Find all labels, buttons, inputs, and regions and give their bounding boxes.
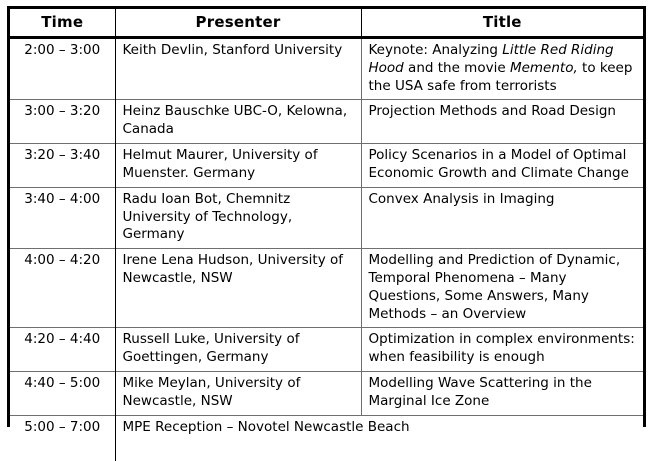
schedule-table-container: Time Presenter Title 2:00 – 3:00Keith De…	[7, 6, 646, 427]
cell-presenter: Helmut Maurer, University of Muenster. G…	[115, 144, 361, 188]
cell-presenter: Mike Meylan, University of Newcastle, NS…	[115, 372, 361, 416]
title-italic-segment: Memento,	[510, 60, 578, 76]
table-row: 2:00 – 3:00Keith Devlin, Stanford Univer…	[10, 38, 643, 100]
cell-time: 3:20 – 3:40	[10, 144, 115, 188]
cell-title: Modelling Wave Scattering in the Margina…	[361, 372, 643, 416]
header-row: Time Presenter Title	[10, 9, 643, 38]
conference-schedule-table: Time Presenter Title 2:00 – 3:00Keith De…	[10, 9, 643, 461]
cell-title: Convex Analysis in Imaging	[361, 187, 643, 248]
cell-presenter: Irene Lena Hudson, University of Newcast…	[115, 249, 361, 328]
column-header-title: Title	[361, 9, 643, 38]
cell-time: 5:00 – 7:00	[10, 415, 115, 461]
title-segment: and the movie	[404, 60, 510, 76]
cell-title: Optimization in complex environments: wh…	[361, 328, 643, 372]
cell-time: 4:40 – 5:00	[10, 372, 115, 416]
column-header-presenter: Presenter	[115, 9, 361, 38]
table-row: 3:20 – 3:40Helmut Maurer, University of …	[10, 144, 643, 188]
cell-presenter: Russell Luke, University of Goettingen, …	[115, 328, 361, 372]
table-row: 3:00 – 3:20Heinz Bauschke UBC-O, Kelowna…	[10, 100, 643, 144]
table-body: 2:00 – 3:00Keith Devlin, Stanford Univer…	[10, 38, 643, 461]
title-segment: Modelling Wave Scattering in the Margina…	[369, 375, 592, 409]
table-header: Time Presenter Title	[10, 9, 643, 38]
cell-presenter: Radu Ioan Bot, Chemnitz University of Te…	[115, 187, 361, 248]
title-segment: Modelling and Prediction of Dynamic, Tem…	[369, 252, 621, 321]
title-segment: Optimization in complex environments: wh…	[369, 331, 635, 365]
table-row: 5:00 – 7:00MPE Reception – Novotel Newca…	[10, 415, 643, 461]
table-row: 3:40 – 4:00Radu Ioan Bot, Chemnitz Unive…	[10, 187, 643, 248]
table-row: 4:40 – 5:00Mike Meylan, University of Ne…	[10, 372, 643, 416]
cell-title: Modelling and Prediction of Dynamic, Tem…	[361, 249, 643, 328]
title-segment: Convex Analysis in Imaging	[369, 191, 555, 207]
table-row: 4:00 – 4:20Irene Lena Hudson, University…	[10, 249, 643, 328]
column-header-time: Time	[10, 9, 115, 38]
cell-time: 3:00 – 3:20	[10, 100, 115, 144]
cell-presenter: Keith Devlin, Stanford University	[115, 38, 361, 100]
cell-time: 4:20 – 4:40	[10, 328, 115, 372]
cell-presenter: Heinz Bauschke UBC-O, Kelowna, Canada	[115, 100, 361, 144]
title-segment: Policy Scenarios in a Model of Optimal E…	[369, 147, 629, 181]
cell-title: Keynote: Analyzing Little Red Riding Hoo…	[361, 38, 643, 100]
title-segment: Keynote: Analyzing	[369, 42, 503, 58]
title-segment: Projection Methods and Road Design	[369, 103, 616, 119]
table-row: 4:20 – 4:40Russell Luke, University of G…	[10, 328, 643, 372]
cell-presenter-merged: MPE Reception – Novotel Newcastle Beach	[115, 415, 643, 461]
cell-time: 2:00 – 3:00	[10, 38, 115, 100]
cell-title: Policy Scenarios in a Model of Optimal E…	[361, 144, 643, 188]
cell-title: Projection Methods and Road Design	[361, 100, 643, 144]
cell-time: 4:00 – 4:20	[10, 249, 115, 328]
cell-time: 3:40 – 4:00	[10, 187, 115, 248]
